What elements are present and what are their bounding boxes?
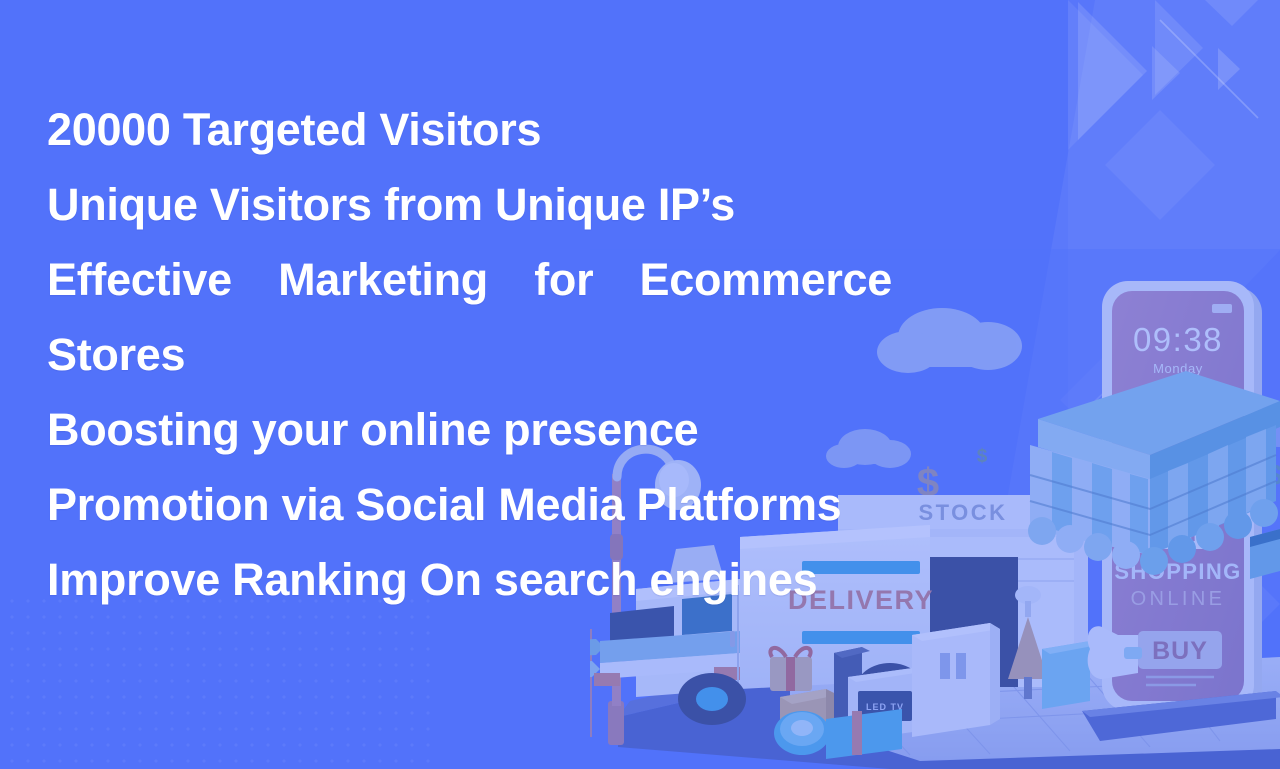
copy-line-online-presence: Boosting your online presence (47, 392, 892, 467)
copy-line-effective-marketing-text: Effective Marketing for Ecommerce Stores (47, 254, 892, 380)
triangle-small-right (1152, 46, 1180, 100)
promo-banner: $ $ $ $ $ $ (0, 0, 1280, 769)
triangle-corner-top (1205, 0, 1258, 26)
phone-clock: 09:38 (1133, 321, 1223, 358)
shopping-label-line2: ONLINE (1131, 588, 1226, 610)
triangle-edge-right (1218, 48, 1240, 90)
copy-line-visitors: 20000 Targeted Visitors (47, 92, 892, 167)
round-tin (774, 711, 830, 755)
dollar-symbol-1: $ (977, 446, 988, 467)
credit-card (1250, 529, 1280, 579)
triangle-large-right-shadow (1068, 0, 1143, 150)
copy-line-unique-ips: Unique Visitors from Unique IP’s (47, 167, 892, 242)
highlight-line-1 (1160, 20, 1258, 118)
triangle-mid-right (1155, 0, 1203, 95)
buy-button-label: BUY (1152, 637, 1208, 665)
headline-copy-block: 20000 Targeted Visitors Unique Visitors … (47, 92, 892, 617)
triangle-large-right (1078, 2, 1147, 140)
cloud-large (877, 308, 1022, 373)
truck-stripe-bottom (802, 631, 920, 644)
stock-sign-text: STOCK (918, 500, 1007, 525)
battery-icon (1212, 304, 1232, 313)
copy-line-effective-marketing: Effective Marketing for Ecommerce Stores (47, 242, 892, 392)
copy-line-social-media: Promotion via Social Media Platforms (47, 467, 892, 542)
copy-line-search-ranking: Improve Ranking On search engines (47, 542, 892, 617)
diamond-shape-upper (1105, 110, 1215, 220)
